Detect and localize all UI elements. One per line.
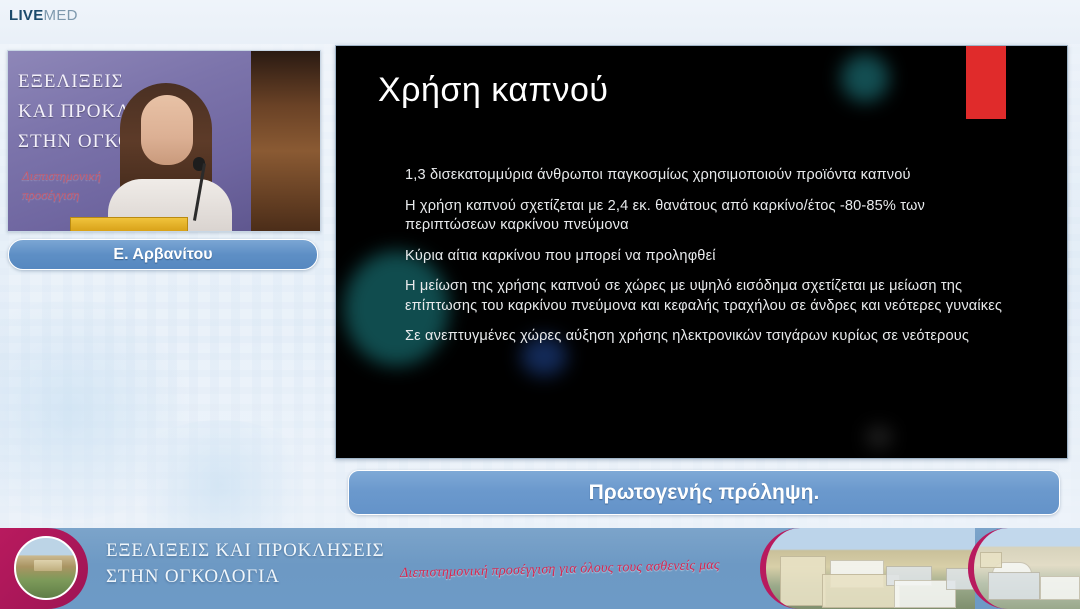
video-frame: ΕΞΕΛΙΞΕΙΣ ΚΑΙ ΠΡΟΚΛΗΣΕΙΣ ΣΤΗΝ ΟΓΚΟΛΟΓΙΑ … — [8, 51, 320, 231]
acropolis-photo-circle — [14, 536, 78, 600]
parthenon-shape — [34, 560, 62, 571]
congress-title: ΕΞΕΛΙΞΕΙΣ ΚΑΙ ΠΡΟΚΛΗΣΕΙΣ ΣΤΗΝ ΟΓΚΟΛΟΓΙΑ — [106, 538, 385, 590]
hospital-photo-panel-1 — [760, 528, 975, 609]
slide-bullet: Η χρήση καπνού σχετίζεται με 2,4 εκ. θαν… — [405, 197, 1005, 236]
hospital-photo-panel-2 — [968, 528, 1080, 609]
top-bar: LIVEMED — [0, 0, 1080, 44]
speaker-name-text: Ε. Αρβανίτου — [113, 246, 212, 264]
logo-live-text: LIVE — [9, 7, 44, 24]
podium — [70, 217, 188, 232]
slide-title: Χρήση καπνού — [378, 71, 608, 110]
livemed-logo[interactable]: LIVEMED — [9, 8, 78, 24]
presentation-slide[interactable]: Χρήση καπνού 1,3 δισεκατομμύρια άνθρωποι… — [335, 45, 1068, 459]
slide-decor-blob — [866, 426, 892, 448]
slide-bullet-list: 1,3 δισεκατομμύρια άνθρωποι παγκοσμίως χ… — [405, 166, 1005, 358]
session-caption-bar: Πρωτογενής πρόληψη. — [348, 470, 1060, 515]
video-backdrop-script: Διεπιστημονική προσέγγιση — [22, 166, 101, 204]
logo-med-text: MED — [44, 7, 78, 24]
slide-bullet: Κύρια αίτια καρκίνου που μπορεί να προλη… — [405, 247, 1005, 267]
video-side-wall — [251, 51, 321, 232]
slide-bullet: Η μείωση της χρήσης καπνού σε χώρες με υ… — [405, 277, 1005, 316]
speaker-name-badge: Ε. Αρβανίτου — [8, 239, 318, 270]
slide-red-accent-bar — [966, 46, 1006, 119]
speaker-video-player[interactable]: ΕΞΕΛΙΞΕΙΣ ΚΑΙ ΠΡΟΚΛΗΣΕΙΣ ΣΤΗΝ ΟΓΚΟΛΟΓΙΑ … — [7, 50, 321, 232]
app-root: LIVEMED ΕΞΕΛΙΞΕΙΣ ΚΑΙ ΠΡΟΚΛΗΣΕΙΣ ΣΤΗΝ ΟΓ… — [0, 0, 1080, 609]
slide-bullet: Σε ανεπτυγμένες χώρες αύξηση χρήσης ηλεκ… — [405, 327, 1005, 347]
speaker-face — [141, 95, 193, 165]
slide-bullet: 1,3 δισεκατομμύρια άνθρωποι παγκοσμίως χ… — [405, 166, 1005, 186]
session-caption-text: Πρωτογενής πρόληψη. — [589, 481, 820, 505]
slide-decor-blob — [841, 54, 889, 102]
